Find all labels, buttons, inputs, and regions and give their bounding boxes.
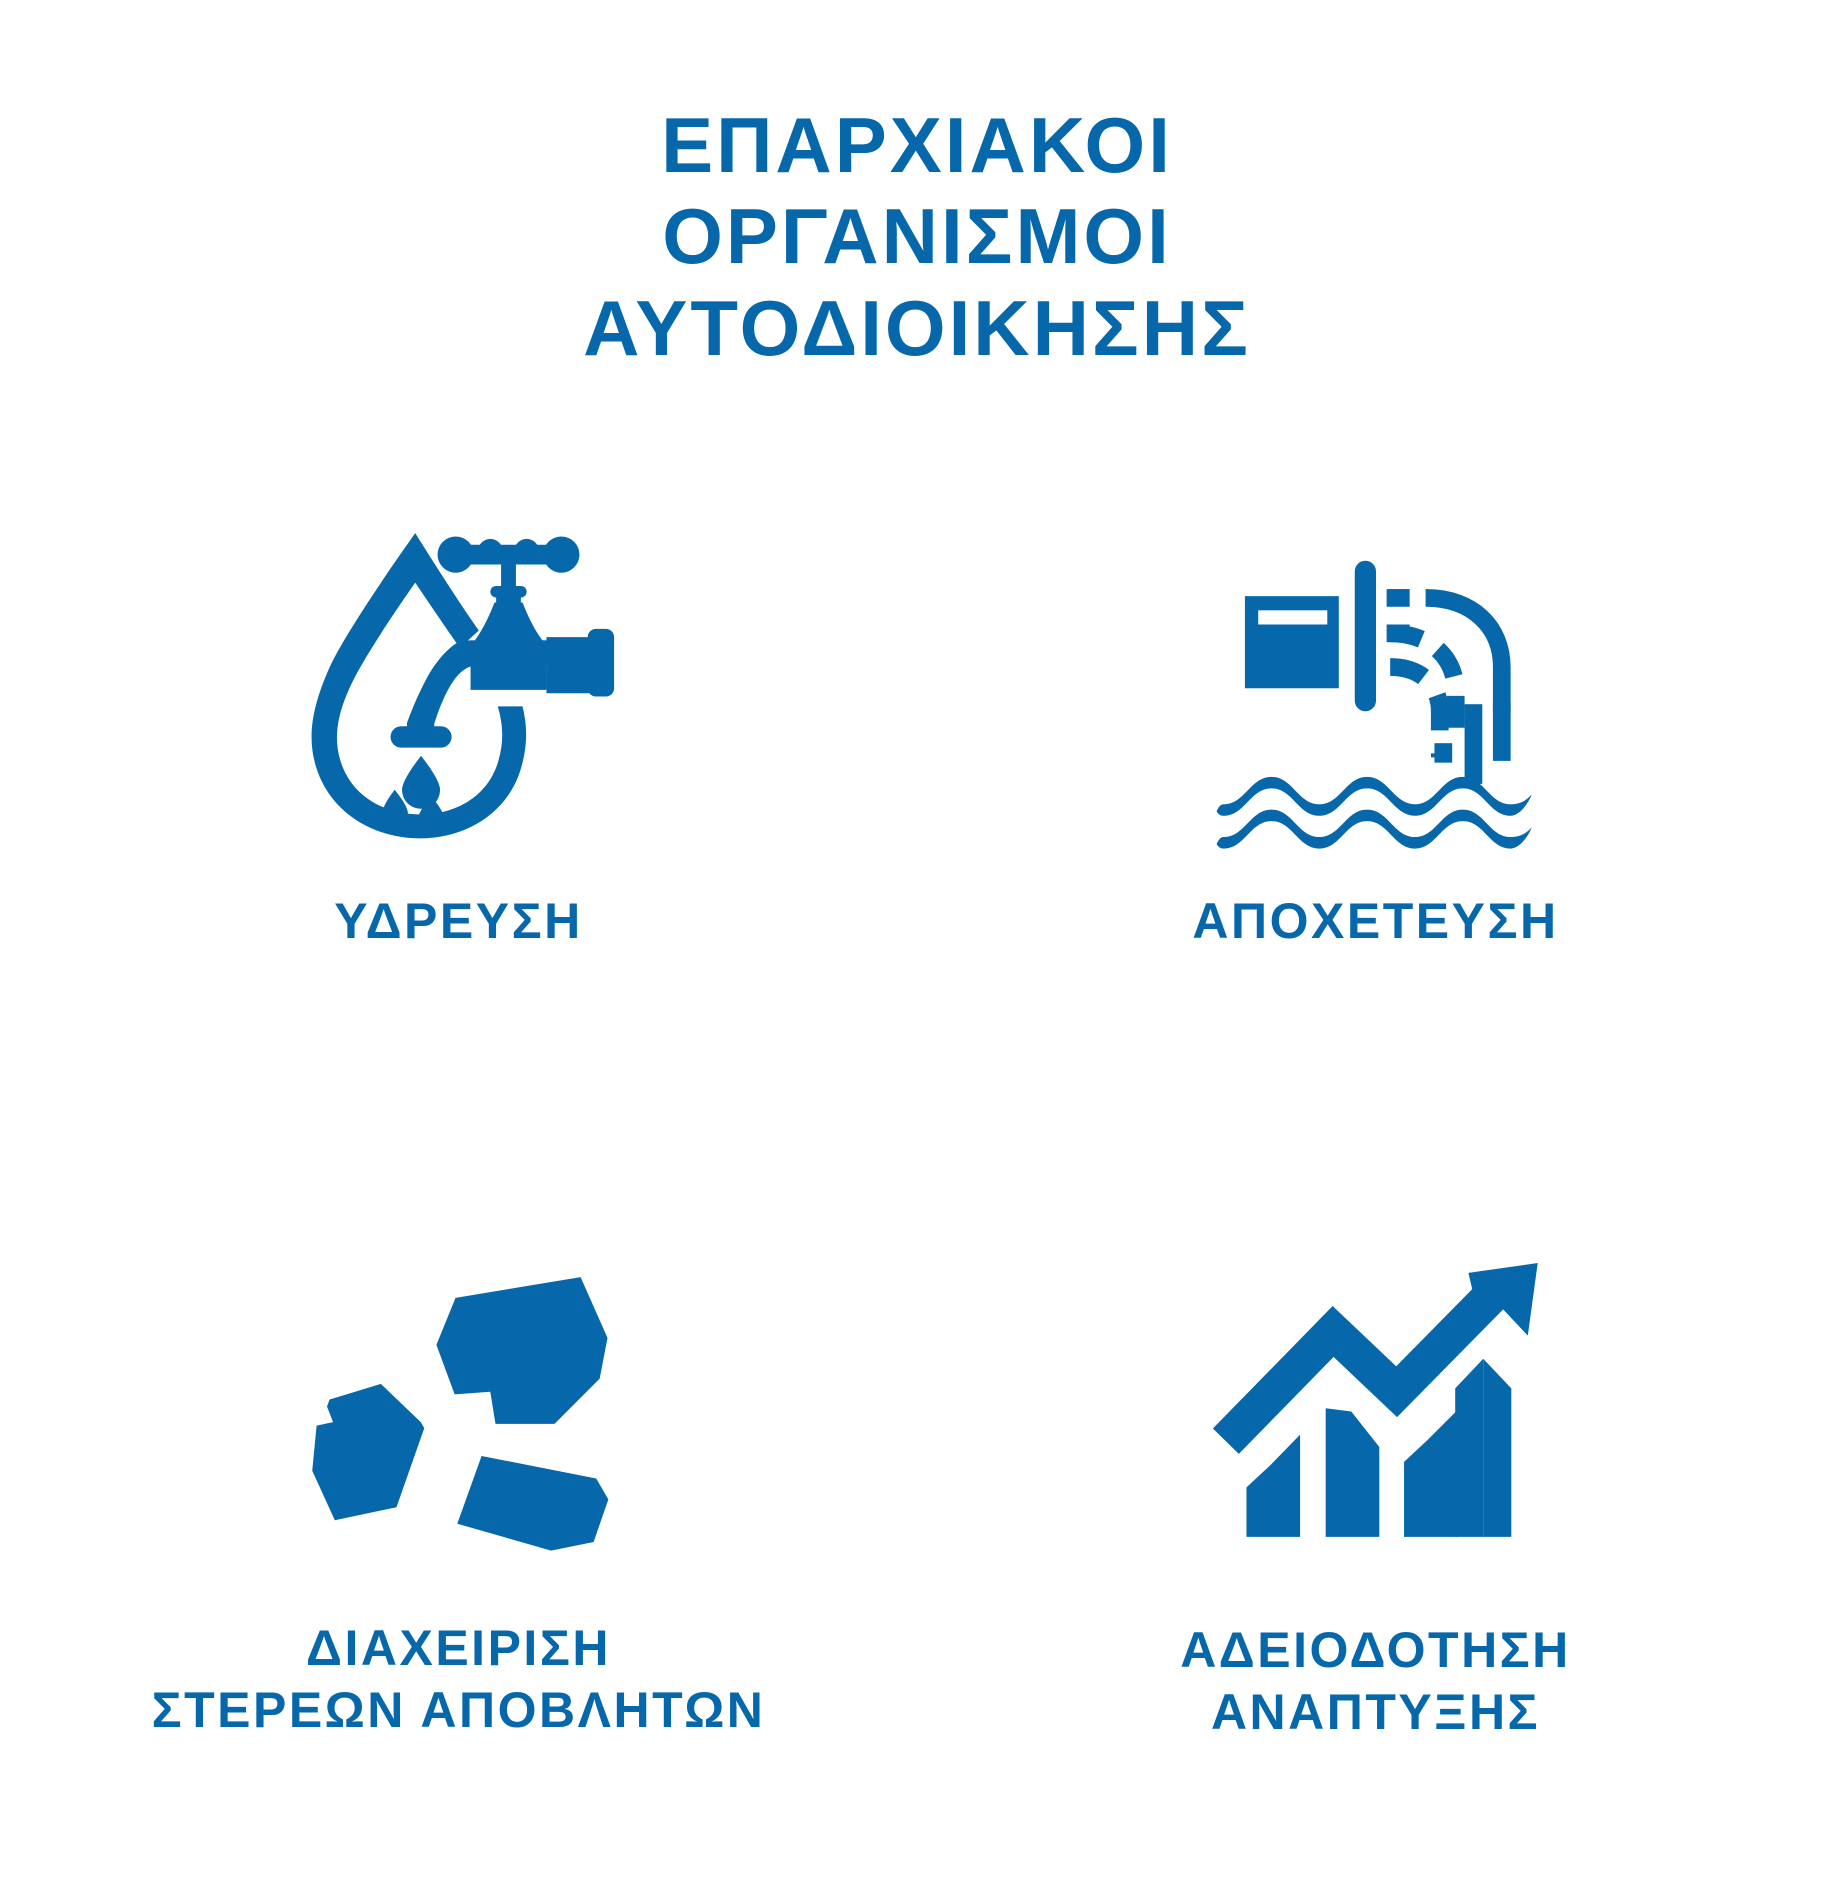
page-title-line-2: ΟΡΓΑΝΙΣΜΟΙ bbox=[0, 191, 1834, 282]
service-label-line: ΑΠΟΧΕΤΕΥΣΗ bbox=[1192, 890, 1558, 952]
service-item-solid-waste-management[interactable]: ΔΙΑΧΕΙΡΙΣΗ ΣΤΕΡΕΩΝ ΑΠΟΒΛΗΤΩΝ bbox=[0, 1165, 917, 1830]
service-label-line: ΔΙΑΧΕΙΡΙΣΗ bbox=[152, 1617, 766, 1679]
growth-chart-arrow-icon bbox=[1186, 1215, 1566, 1575]
page-title-line-1: ΕΠΑΡΧΙΑΚΟΙ bbox=[0, 100, 1834, 191]
page-title-line-3: ΑΥΤΟΔΙΟΙΚΗΣΗΣ bbox=[0, 283, 1834, 374]
services-grid: ΥΔΡΕΥΣΗ bbox=[0, 500, 1834, 1830]
service-label-water-supply: ΥΔΡΕΥΣΗ bbox=[334, 890, 582, 952]
service-item-sewerage[interactable]: ΑΠΟΧΕΤΕΥΣΗ bbox=[917, 500, 1834, 1165]
service-label-line: ΑΔΕΙΟΔΟΤΗΣΗ bbox=[1180, 1619, 1571, 1681]
service-label-line: ΑΝΑΠΤΥΞΗΣ bbox=[1180, 1681, 1571, 1743]
service-label-sewerage: ΑΠΟΧΕΤΕΥΣΗ bbox=[1192, 890, 1558, 952]
service-label-solid-waste-management: ΔΙΑΧΕΙΡΙΣΗ ΣΤΕΡΕΩΝ ΑΠΟΒΛΗΤΩΝ bbox=[152, 1617, 766, 1741]
service-item-development-licensing[interactable]: ΑΔΕΙΟΔΟΤΗΣΗ ΑΝΑΠΤΥΞΗΣ bbox=[917, 1165, 1834, 1830]
page-title: ΕΠΑΡΧΙΑΚΟΙ ΟΡΓΑΝΙΣΜΟΙ ΑΥΤΟΔΙΟΙΚΗΣΗΣ bbox=[0, 100, 1834, 374]
service-label-line: ΣΤΕΡΕΩΝ ΑΠΟΒΛΗΤΩΝ bbox=[152, 1679, 766, 1741]
service-label-line: ΥΔΡΕΥΣΗ bbox=[334, 890, 582, 952]
water-tap-droplet-icon bbox=[269, 500, 649, 860]
sewage-outfall-waves-icon bbox=[1186, 518, 1566, 878]
recycling-waste-fragments-icon bbox=[269, 1223, 649, 1583]
service-label-development-licensing: ΑΔΕΙΟΔΟΤΗΣΗ ΑΝΑΠΤΥΞΗΣ bbox=[1180, 1619, 1571, 1743]
poster-canvas: ΕΠΑΡΧΙΑΚΟΙ ΟΡΓΑΝΙΣΜΟΙ ΑΥΤΟΔΙΟΙΚΗΣΗΣ bbox=[0, 0, 1834, 1890]
service-item-water-supply[interactable]: ΥΔΡΕΥΣΗ bbox=[0, 500, 917, 1165]
